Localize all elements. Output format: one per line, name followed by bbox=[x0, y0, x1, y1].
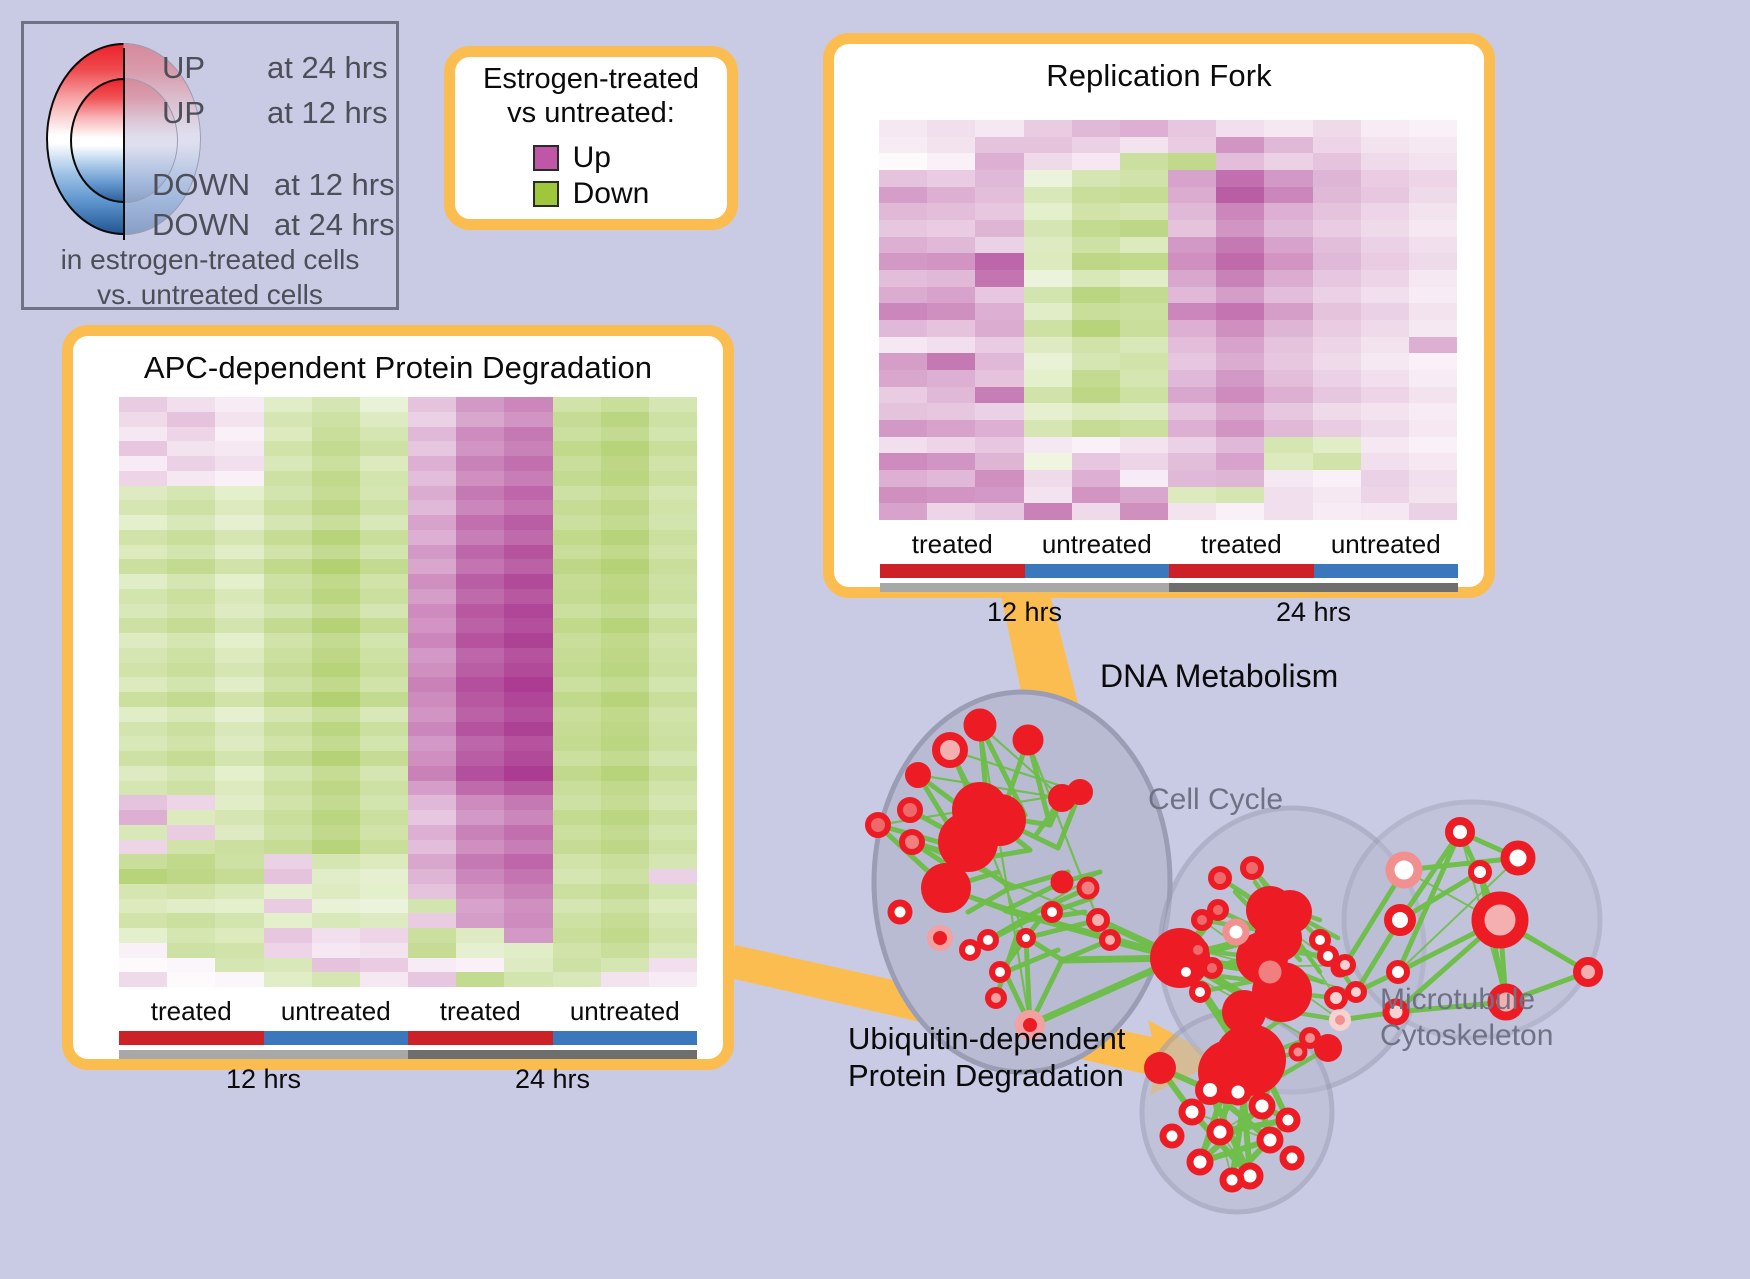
heatmap-cell bbox=[1168, 370, 1216, 387]
heatmap-cell bbox=[360, 677, 408, 692]
heatmap-cell bbox=[119, 928, 167, 943]
heatmap-cell bbox=[553, 854, 601, 869]
legend-caption-line2: vs. untreated cells bbox=[24, 277, 396, 312]
heatmap-cell bbox=[1024, 453, 1072, 470]
heatmap-cell bbox=[504, 795, 552, 810]
heatmap-cell bbox=[360, 913, 408, 928]
heatmap-cell bbox=[1264, 437, 1312, 454]
heatmap-cell bbox=[1361, 203, 1409, 220]
apc-col-label-1: untreated bbox=[264, 996, 409, 1027]
heatmap-cell bbox=[1409, 270, 1457, 287]
heatmap-cell bbox=[1313, 470, 1361, 487]
heatmap-cell bbox=[1120, 420, 1168, 437]
heatmap-cell bbox=[1409, 187, 1457, 204]
heatmap-cell bbox=[408, 633, 456, 648]
heatmap-cell bbox=[215, 913, 263, 928]
heatmap-cell bbox=[215, 663, 263, 678]
heatmap-cell bbox=[1168, 270, 1216, 287]
heatmap-cell bbox=[1216, 403, 1264, 420]
heatmap-cell bbox=[1313, 270, 1361, 287]
heatmap-cell bbox=[927, 270, 975, 287]
heatmap-cell bbox=[553, 427, 601, 442]
heatmap-cell bbox=[504, 559, 552, 574]
heatmap-cell bbox=[215, 412, 263, 427]
heatmap-cell bbox=[1216, 170, 1264, 187]
heatmap-cell bbox=[927, 320, 975, 337]
heatmap-cell bbox=[1120, 120, 1168, 137]
heatmap-cell bbox=[167, 795, 215, 810]
heatmap-cell bbox=[312, 825, 360, 840]
heatmap-cell bbox=[1168, 303, 1216, 320]
heatmap-cell bbox=[1072, 437, 1120, 454]
heatmap-cell bbox=[360, 471, 408, 486]
heatmap-cell bbox=[264, 840, 312, 855]
heatmap-cell bbox=[649, 589, 697, 604]
heatmap-cell bbox=[649, 677, 697, 692]
heatmap-cell bbox=[1120, 453, 1168, 470]
heatmap-cell bbox=[215, 545, 263, 560]
apc-column-strip: treated untreated treated untreated 12 h… bbox=[119, 996, 697, 1095]
heatmap-cell bbox=[504, 412, 552, 427]
heatmap-cell bbox=[119, 958, 167, 973]
heatmap-cell bbox=[649, 633, 697, 648]
panel-apc-title: APC-dependent Protein Degradation bbox=[73, 350, 723, 386]
heatmap-cell bbox=[215, 810, 263, 825]
heatmap-cell bbox=[601, 456, 649, 471]
heatmap-cell bbox=[601, 427, 649, 442]
heatmap-cell bbox=[879, 187, 927, 204]
heatmap-cell bbox=[1216, 237, 1264, 254]
heatmap-cell bbox=[312, 722, 360, 737]
heatmap-cell bbox=[879, 253, 927, 270]
heatmap-cell bbox=[553, 545, 601, 560]
heatmap-cell bbox=[504, 810, 552, 825]
heatmap-cell bbox=[975, 353, 1023, 370]
heatmap-cell bbox=[1168, 337, 1216, 354]
heatmap-cell bbox=[927, 387, 975, 404]
heatmap-cell bbox=[1409, 303, 1457, 320]
heatmap-cell bbox=[456, 663, 504, 678]
cluster-label-microtubule: Microtubule Cytoskeleton bbox=[1380, 982, 1553, 1054]
heatmap-cell bbox=[1120, 487, 1168, 504]
heatmap-cell bbox=[1264, 403, 1312, 420]
heatmap-cell bbox=[408, 618, 456, 633]
heatmap-cell bbox=[264, 515, 312, 530]
heatmap-cell bbox=[215, 899, 263, 914]
heatmap-cell bbox=[264, 530, 312, 545]
condition-seg-treated-24 bbox=[1169, 564, 1314, 578]
heatmap-cell bbox=[312, 928, 360, 943]
heatmap-cell bbox=[649, 972, 697, 987]
heatmap-cell bbox=[649, 854, 697, 869]
heatmap-cell bbox=[1313, 370, 1361, 387]
heatmap-cell bbox=[456, 943, 504, 958]
heatmap-cell bbox=[504, 589, 552, 604]
heatmap-cell bbox=[312, 456, 360, 471]
heatmap-cell bbox=[215, 707, 263, 722]
heatmap-cell bbox=[1168, 203, 1216, 220]
heatmap-cell bbox=[1120, 253, 1168, 270]
heatmap-cell bbox=[504, 707, 552, 722]
heatmap-cell bbox=[408, 869, 456, 884]
heatmap-cell bbox=[1120, 220, 1168, 237]
heatmap-cell bbox=[119, 899, 167, 914]
heatmap-cell bbox=[649, 736, 697, 751]
heatmap-cell bbox=[649, 781, 697, 796]
heatmap-cell bbox=[264, 854, 312, 869]
heatmap-cell bbox=[167, 633, 215, 648]
heatmap-cell bbox=[408, 677, 456, 692]
heatmap-cell bbox=[1120, 203, 1168, 220]
heatmap-cell bbox=[1120, 187, 1168, 204]
heatmap-cell bbox=[504, 869, 552, 884]
heatmap-cell bbox=[312, 972, 360, 987]
heatmap-cell bbox=[1264, 503, 1312, 520]
heatmap-cell bbox=[879, 420, 927, 437]
heatmap-cell bbox=[1072, 470, 1120, 487]
heatmap-cell bbox=[360, 633, 408, 648]
heatmap-cell bbox=[408, 810, 456, 825]
heatmap-cell bbox=[456, 825, 504, 840]
heatmap-cell bbox=[504, 545, 552, 560]
heatmap-cell bbox=[1313, 437, 1361, 454]
heatmap-cell bbox=[927, 303, 975, 320]
heatmap-cell bbox=[1120, 387, 1168, 404]
heatmap-cell bbox=[975, 453, 1023, 470]
heatmap-cell bbox=[1361, 403, 1409, 420]
heatmap-cell bbox=[504, 736, 552, 751]
heatmap-cell bbox=[360, 500, 408, 515]
heatmap-cell bbox=[264, 648, 312, 663]
heatmap-cell bbox=[215, 928, 263, 943]
heatmap-cell bbox=[456, 648, 504, 663]
heatmap-cell bbox=[312, 869, 360, 884]
heatmap-cell bbox=[1024, 387, 1072, 404]
heatmap-cell bbox=[601, 751, 649, 766]
heatmap-cell bbox=[215, 589, 263, 604]
heatmap-cell bbox=[649, 427, 697, 442]
heatmap-cell bbox=[1409, 320, 1457, 337]
heatmap-cell bbox=[1216, 203, 1264, 220]
heatmap-cell bbox=[167, 397, 215, 412]
heatmap-cell bbox=[1216, 187, 1264, 204]
heatmap-cell bbox=[119, 943, 167, 958]
heatmap-cell bbox=[649, 397, 697, 412]
legend-updown-title-line2: vs untreated: bbox=[483, 97, 699, 131]
heatmap-cell bbox=[601, 618, 649, 633]
heatmap-cell bbox=[264, 677, 312, 692]
heatmap-cell bbox=[1409, 237, 1457, 254]
heatmap-cell bbox=[1072, 403, 1120, 420]
heatmap-cell bbox=[215, 530, 263, 545]
heatmap-cell bbox=[215, 854, 263, 869]
heatmap-cell bbox=[408, 825, 456, 840]
heatmap-cell bbox=[649, 928, 697, 943]
heatmap-cell bbox=[1409, 153, 1457, 170]
heatmap-cell bbox=[601, 486, 649, 501]
heatmap-cell bbox=[1409, 353, 1457, 370]
heatmap-cell bbox=[649, 913, 697, 928]
heatmap-cell bbox=[167, 707, 215, 722]
heatmap-cell bbox=[360, 810, 408, 825]
heatmap-cell bbox=[215, 648, 263, 663]
heatmap-cell bbox=[649, 441, 697, 456]
heatmap-cell bbox=[1216, 220, 1264, 237]
condition-seg-untreated-24 bbox=[1314, 564, 1459, 578]
heatmap-cell bbox=[360, 530, 408, 545]
heatmap-cell bbox=[504, 441, 552, 456]
heatmap-cell bbox=[649, 751, 697, 766]
heatmap-cell bbox=[553, 928, 601, 943]
cluster-label-microtubule-line1: Microtubule bbox=[1380, 982, 1553, 1018]
legend-row-2-value: at 12 hrs bbox=[274, 167, 395, 203]
heatmap-cell bbox=[119, 618, 167, 633]
heatmap-cell bbox=[360, 456, 408, 471]
heatmap-cell bbox=[408, 958, 456, 973]
heatmap-cell bbox=[456, 899, 504, 914]
heatmap-cell bbox=[1264, 387, 1312, 404]
legend-updown-title: Estrogen-treated vs untreated: bbox=[483, 63, 699, 130]
heatmap-cell bbox=[553, 869, 601, 884]
heatmap-cell bbox=[553, 441, 601, 456]
heatmap-cell bbox=[408, 722, 456, 737]
heatmap-cell bbox=[312, 515, 360, 530]
heatmap-cell bbox=[1409, 503, 1457, 520]
heatmap-cell bbox=[1216, 153, 1264, 170]
heatmap-cell bbox=[1072, 420, 1120, 437]
heatmap-cell bbox=[553, 751, 601, 766]
heatmap-cell bbox=[119, 663, 167, 678]
heatmap-cell bbox=[1216, 303, 1264, 320]
heatmap-cell bbox=[504, 456, 552, 471]
heatmap-cell bbox=[456, 397, 504, 412]
heatmap-cell bbox=[1024, 403, 1072, 420]
heatmap-cell bbox=[504, 397, 552, 412]
heatmap-cell bbox=[553, 825, 601, 840]
heatmap-cell bbox=[553, 648, 601, 663]
heatmap-cell bbox=[312, 441, 360, 456]
heatmap-cell bbox=[1264, 237, 1312, 254]
heatmap-cell bbox=[215, 604, 263, 619]
heatmap-cell bbox=[1216, 287, 1264, 304]
heatmap-cell bbox=[312, 751, 360, 766]
heatmap-cell bbox=[1216, 253, 1264, 270]
heatmap-cell bbox=[927, 370, 975, 387]
heatmap-cell bbox=[360, 899, 408, 914]
heatmap-cell bbox=[456, 781, 504, 796]
heatmap-cell bbox=[601, 471, 649, 486]
heatmap-cell bbox=[312, 899, 360, 914]
heatmap-cell bbox=[1313, 503, 1361, 520]
heatmap-cell bbox=[879, 153, 927, 170]
heatmap-cell bbox=[408, 441, 456, 456]
heatmap-cell bbox=[360, 515, 408, 530]
heatmap-cell bbox=[167, 825, 215, 840]
heatmap-cell bbox=[360, 707, 408, 722]
heatmap-cell bbox=[312, 707, 360, 722]
heatmap-cell bbox=[408, 795, 456, 810]
heatmap-cell bbox=[456, 633, 504, 648]
heatmap-cell bbox=[360, 958, 408, 973]
heatmap-cell bbox=[1216, 353, 1264, 370]
heatmap-cell bbox=[927, 337, 975, 354]
heatmap-cell bbox=[215, 736, 263, 751]
heatmap-cell bbox=[504, 722, 552, 737]
heatmap-cell bbox=[167, 928, 215, 943]
heatmap-cell bbox=[1313, 320, 1361, 337]
heatmap-cell bbox=[264, 795, 312, 810]
heatmap-cell bbox=[504, 500, 552, 515]
down-swatch-icon bbox=[533, 181, 559, 207]
panel-apc-degradation: APC-dependent Protein Degradation treate… bbox=[62, 325, 734, 1070]
heatmap-cell bbox=[1409, 120, 1457, 137]
heatmap-cell bbox=[360, 441, 408, 456]
heatmap-cell bbox=[927, 453, 975, 470]
heatmap-cell bbox=[649, 958, 697, 973]
heatmap-cell bbox=[456, 913, 504, 928]
heatmap-cell bbox=[312, 559, 360, 574]
heatmap-cell bbox=[649, 530, 697, 545]
heatmap-cell bbox=[119, 427, 167, 442]
heatmap-cell bbox=[601, 781, 649, 796]
heatmap-cell bbox=[601, 825, 649, 840]
heatmap-cell bbox=[312, 781, 360, 796]
legend-updown-key: Estrogen-treated vs untreated: Up Down bbox=[444, 46, 738, 230]
heatmap-cell bbox=[1216, 337, 1264, 354]
heatmap-cell bbox=[1024, 353, 1072, 370]
replication-col-label-0: treated bbox=[880, 529, 1025, 560]
heatmap-cell bbox=[119, 781, 167, 796]
legend-row-1-value: at 12 hrs bbox=[267, 95, 388, 131]
heatmap-cell bbox=[1361, 237, 1409, 254]
heatmap-cell bbox=[1313, 403, 1361, 420]
network-svg bbox=[800, 620, 1750, 1279]
heatmap-cell bbox=[456, 471, 504, 486]
heatmap-cell bbox=[1313, 137, 1361, 154]
heatmap-cell bbox=[879, 437, 927, 454]
cluster-label-ubiquitin-line2: Protein Degradation bbox=[848, 1057, 1126, 1094]
apc-col-label-0: treated bbox=[119, 996, 264, 1027]
heatmap-cell bbox=[504, 840, 552, 855]
heatmap-cell bbox=[553, 972, 601, 987]
heatmap-cell bbox=[553, 530, 601, 545]
heatmap-cell bbox=[1264, 137, 1312, 154]
heatmap-cell bbox=[1313, 237, 1361, 254]
heatmap-cell bbox=[1361, 170, 1409, 187]
heatmap-cell bbox=[167, 663, 215, 678]
legend-row-3-key: DOWN bbox=[152, 207, 250, 243]
heatmap-cell bbox=[456, 840, 504, 855]
heatmap-cell bbox=[408, 648, 456, 663]
legend-row-0-value: at 24 hrs bbox=[267, 50, 388, 86]
heatmap-cell bbox=[408, 781, 456, 796]
heatmap-cell bbox=[167, 618, 215, 633]
heatmap-cell bbox=[1024, 120, 1072, 137]
heatmap-cell bbox=[1072, 253, 1120, 270]
heatmap-cell bbox=[167, 884, 215, 899]
heatmap-cell bbox=[504, 692, 552, 707]
heatmap-cell bbox=[601, 840, 649, 855]
heatmap-cell bbox=[927, 420, 975, 437]
heatmap-cell bbox=[264, 810, 312, 825]
heatmap-cell bbox=[1313, 303, 1361, 320]
heatmap-cell bbox=[215, 795, 263, 810]
heatmap-cell bbox=[553, 412, 601, 427]
apc-time-label-0: 12 hrs bbox=[119, 1064, 408, 1095]
heatmap-cell bbox=[927, 353, 975, 370]
heatmap-cell bbox=[879, 403, 927, 420]
replication-condition-bar bbox=[880, 564, 1458, 578]
apc-column-labels: treated untreated treated untreated bbox=[119, 996, 697, 1027]
heatmap-cell bbox=[1361, 370, 1409, 387]
heatmap-cell bbox=[1409, 420, 1457, 437]
heatmap-cell bbox=[553, 500, 601, 515]
heatmap-cell bbox=[1072, 203, 1120, 220]
heatmap-cell bbox=[264, 618, 312, 633]
heatmap-cell bbox=[1024, 287, 1072, 304]
heatmap-cell bbox=[264, 751, 312, 766]
heatmap-cell bbox=[408, 530, 456, 545]
heatmap-cell bbox=[119, 766, 167, 781]
heatmap-cell bbox=[1024, 220, 1072, 237]
heatmap-cell bbox=[1361, 187, 1409, 204]
heatmap-cell bbox=[1264, 453, 1312, 470]
heatmap-cell bbox=[649, 943, 697, 958]
heatmap-cell bbox=[1264, 170, 1312, 187]
heatmap-cell bbox=[879, 320, 927, 337]
cluster-label-cell-cycle: Cell Cycle bbox=[1148, 783, 1283, 817]
heatmap-cell bbox=[1024, 153, 1072, 170]
heatmap-cell bbox=[649, 825, 697, 840]
apc-col-label-3: untreated bbox=[553, 996, 698, 1027]
heatmap-cell bbox=[408, 840, 456, 855]
heatmap-cell bbox=[1264, 203, 1312, 220]
heatmap-cell bbox=[601, 928, 649, 943]
heatmap-cell bbox=[215, 397, 263, 412]
heatmap-cell bbox=[1120, 287, 1168, 304]
heatmap-cell bbox=[553, 589, 601, 604]
legend-updown-items: Up Down bbox=[533, 139, 650, 213]
heatmap-cell bbox=[456, 958, 504, 973]
heatmap-cell bbox=[167, 530, 215, 545]
heatmap-cell bbox=[975, 337, 1023, 354]
heatmap-cell bbox=[408, 397, 456, 412]
heatmap-cell bbox=[119, 736, 167, 751]
heatmap-cell bbox=[927, 170, 975, 187]
heatmap-cell bbox=[456, 456, 504, 471]
heatmap-cell bbox=[504, 766, 552, 781]
heatmap-cell bbox=[975, 320, 1023, 337]
heatmap-cell bbox=[927, 237, 975, 254]
heatmap-cell bbox=[456, 869, 504, 884]
heatmap-cell bbox=[553, 781, 601, 796]
apc-time-bar bbox=[119, 1050, 697, 1059]
heatmap-cell bbox=[312, 795, 360, 810]
heatmap-cell bbox=[1264, 220, 1312, 237]
heatmap-cell bbox=[504, 648, 552, 663]
heatmap-cell bbox=[879, 270, 927, 287]
apc-time-seg-24hrs bbox=[408, 1050, 697, 1059]
heatmap-cell bbox=[975, 237, 1023, 254]
heatmap-cell bbox=[975, 287, 1023, 304]
heatmap-cell bbox=[504, 854, 552, 869]
heatmap-cell bbox=[264, 456, 312, 471]
heatmap-cell bbox=[312, 943, 360, 958]
heatmap-cell bbox=[601, 899, 649, 914]
heatmap-cell bbox=[167, 412, 215, 427]
heatmap-cell bbox=[167, 751, 215, 766]
heatmap-cell bbox=[1072, 487, 1120, 504]
